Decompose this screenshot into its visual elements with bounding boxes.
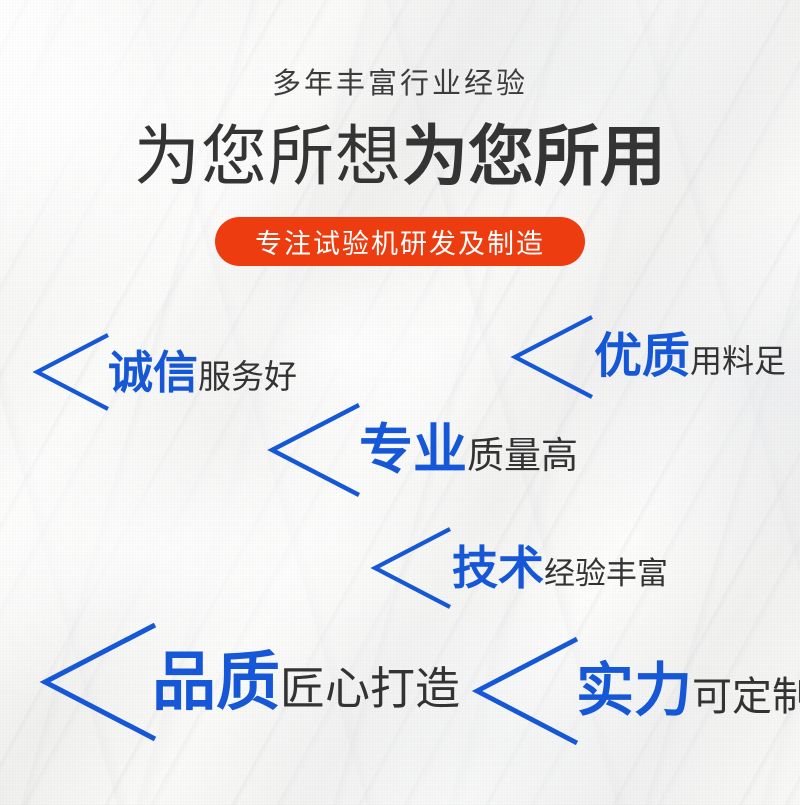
feature-sub-label: 经验丰富 xyxy=(544,558,668,589)
header-block: 多年丰富行业经验 为您所想为您所用 专注试验机研发及制造 xyxy=(0,0,800,266)
focus-badge-button[interactable]: 专注试验机研发及制造 xyxy=(215,217,585,266)
chevron-left-diamond-icon xyxy=(508,312,598,402)
chevron-left-diamond-icon xyxy=(470,634,584,748)
feature-item-jishu[interactable]: 技术 经验丰富 xyxy=(368,524,668,612)
headline-part-light: 为您所想 xyxy=(134,119,402,193)
feature-main-label: 品质 xyxy=(152,650,280,714)
feature-label-group: 技术 经验丰富 xyxy=(452,545,668,591)
feature-main-label: 专业 xyxy=(359,423,467,477)
feature-sub-label: 匠心打造 xyxy=(280,666,460,711)
feature-label-group: 实力 可定制 xyxy=(576,662,800,720)
feature-sub-label: 质量高 xyxy=(467,437,578,474)
feature-item-pinzhi[interactable]: 品质 匠心打造 xyxy=(38,620,460,744)
feature-label-group: 品质 匠心打造 xyxy=(152,650,460,714)
feature-sub-label: 可定制 xyxy=(692,677,800,717)
chevron-left-diamond-icon xyxy=(38,620,162,744)
promo-banner: 多年丰富行业经验 为您所想为您所用 专注试验机研发及制造 诚信 服务好 优质 用… xyxy=(0,0,800,805)
page-title: 为您所想为您所用 xyxy=(0,123,800,189)
feature-label-group: 诚信 服务好 xyxy=(108,350,297,395)
feature-item-chengxin[interactable]: 诚信 服务好 xyxy=(30,330,297,414)
chevron-left-diamond-icon xyxy=(30,330,114,414)
chevron-left-diamond-icon xyxy=(368,524,456,612)
feature-item-shili[interactable]: 实力 可定制 xyxy=(470,634,800,748)
feature-sub-label: 服务好 xyxy=(198,360,297,393)
chevron-left-diamond-icon xyxy=(265,400,365,500)
feature-main-label: 实力 xyxy=(576,662,692,720)
feature-label-group: 优质 用料足 xyxy=(594,333,786,381)
feature-label-group: 专业 质量高 xyxy=(359,423,578,477)
feature-main-label: 优质 xyxy=(594,333,690,381)
headline-part-heavy: 为您所用 xyxy=(402,119,666,193)
feature-main-label: 诚信 xyxy=(108,350,198,395)
eyebrow-text: 多年丰富行业经验 xyxy=(0,70,800,99)
feature-main-label: 技术 xyxy=(452,545,544,591)
feature-item-youzhi[interactable]: 优质 用料足 xyxy=(508,312,786,402)
feature-item-zhuanye[interactable]: 专业 质量高 xyxy=(265,400,578,500)
badge-row: 专注试验机研发及制造 xyxy=(0,217,800,266)
feature-sub-label: 用料足 xyxy=(690,345,786,377)
